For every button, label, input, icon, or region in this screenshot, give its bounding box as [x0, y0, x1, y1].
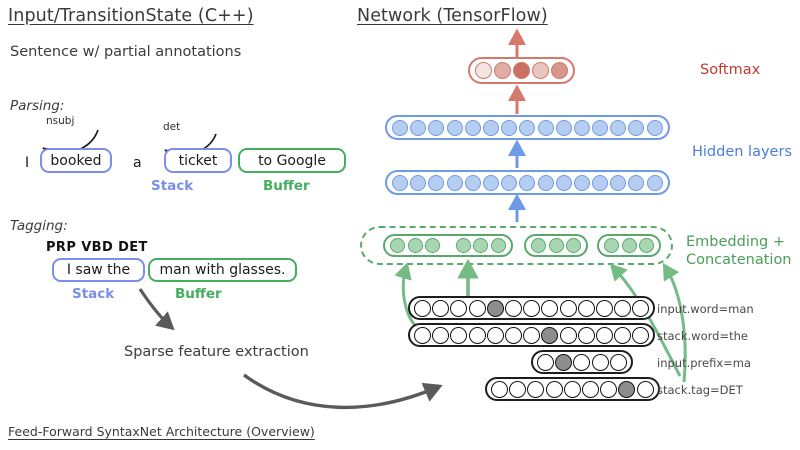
sparse-cell — [564, 381, 581, 398]
sparse-row-1-label: stack.word=the — [657, 329, 748, 343]
layer-unit — [390, 238, 405, 253]
sparse-row-0 — [408, 296, 655, 320]
sparse-cell — [637, 381, 654, 398]
sparse-row-3 — [485, 377, 660, 401]
layer-unit — [501, 120, 517, 136]
layer-unit — [494, 62, 511, 79]
embedding-to-hidden-arrow — [507, 196, 527, 224]
parse-stack-label: Stack — [151, 178, 193, 194]
sparse-cell — [596, 300, 613, 317]
layer-unit — [639, 238, 654, 253]
sparse-row-0-label: input.word=man — [657, 302, 754, 316]
layer-unit — [610, 175, 626, 191]
layer-unit — [556, 175, 572, 191]
extraction-arrow-down — [126, 285, 216, 345]
parse-token-ticket[interactable]: ticket — [164, 148, 232, 173]
left-panel-subtitle: Sentence w/ partial annotations — [10, 44, 241, 60]
sparse-cell — [432, 300, 449, 317]
layer-unit — [425, 238, 440, 253]
layer-unit — [465, 120, 481, 136]
parse-buffer-chip[interactable]: to Google — [238, 148, 346, 173]
layer-unit — [513, 62, 530, 79]
sparse-cell — [450, 300, 467, 317]
output-arrow — [507, 30, 527, 60]
layer-unit — [410, 175, 426, 191]
embedding-group-2 — [524, 234, 588, 257]
layer-unit — [574, 120, 590, 136]
layer-unit — [556, 120, 572, 136]
embedding-label-line2: Concatenation — [686, 252, 792, 269]
layer-unit — [574, 175, 590, 191]
layer-unit — [410, 120, 426, 136]
layer-unit — [532, 62, 549, 79]
layer-unit — [483, 120, 499, 136]
layer-unit — [428, 120, 444, 136]
sparse-cell — [560, 300, 577, 317]
sparse-cell-active — [487, 300, 504, 317]
sparse-cell — [469, 327, 486, 344]
layer-unit — [647, 175, 663, 191]
tagging-caption: Tagging: — [10, 218, 68, 234]
layer-unit — [473, 238, 488, 253]
parse-buffer-label: Buffer — [263, 178, 310, 194]
sparse-row-2 — [531, 350, 633, 374]
embedding-group-3 — [597, 234, 661, 257]
sparse-cell — [578, 300, 595, 317]
sparse-cell — [432, 327, 449, 344]
sparse-cell — [596, 327, 613, 344]
sparse-cell — [509, 381, 526, 398]
sparse-row-3-label: stack.tag=DET — [657, 383, 743, 397]
layer-unit — [392, 175, 408, 191]
layer-unit — [531, 238, 546, 253]
layer-unit — [628, 120, 644, 136]
layer-unit — [501, 175, 517, 191]
sparse-cell — [523, 327, 540, 344]
layer-unit — [551, 62, 568, 79]
sparse-cell — [592, 354, 609, 371]
tag-buffer-chip[interactable]: man with glasses. — [148, 258, 297, 282]
hidden-layers-label: Hidden layers — [692, 144, 792, 161]
hidden-layer-top — [385, 115, 670, 140]
layer-unit — [604, 238, 619, 253]
tag-stack-chip[interactable]: I saw the — [52, 258, 145, 282]
layer-unit — [549, 238, 564, 253]
layer-unit — [447, 175, 463, 191]
arc-label-det: det — [163, 121, 180, 133]
sparse-cell — [527, 381, 544, 398]
footer-caption: Feed-Forward SyntaxNet Architecture (Ove… — [8, 424, 315, 439]
sparse-cell — [614, 327, 631, 344]
sparse-cell — [614, 300, 631, 317]
sparse-cell — [450, 327, 467, 344]
tagging-pos-tags: PRP VBD DET — [46, 240, 148, 255]
layer-unit — [483, 175, 499, 191]
layer-unit — [428, 175, 444, 191]
sparse-cell — [600, 381, 617, 398]
left-panel-title: Input/TransitionState (C++) — [8, 6, 254, 26]
layer-unit — [592, 120, 608, 136]
sparse-row-2-label: input.prefix=ma — [657, 356, 751, 370]
layer-unit — [628, 175, 644, 191]
parse-token-a: a — [133, 155, 142, 171]
sparse-cell — [582, 381, 599, 398]
arc-label-nsubj: nsubj — [46, 115, 74, 127]
sparse-cell — [632, 300, 649, 317]
sparse-cell — [537, 354, 554, 371]
sparse-cell-active — [618, 381, 635, 398]
sparse-cell-active — [555, 354, 572, 371]
parse-token-i: I — [25, 155, 29, 171]
layer-unit — [465, 175, 481, 191]
parsing-caption: Parsing: — [10, 98, 64, 114]
softmax-layer — [468, 57, 575, 84]
layer-unit — [408, 238, 423, 253]
extraction-label: Sparse feature extraction — [124, 344, 309, 360]
layer-unit — [592, 175, 608, 191]
sparse-cell — [505, 300, 522, 317]
sparse-cell — [491, 381, 508, 398]
layer-unit — [456, 238, 471, 253]
layer-unit — [610, 120, 626, 136]
hidden-layer-bottom — [385, 170, 670, 195]
hidden-to-hidden-arrow — [507, 143, 527, 171]
sparse-row-1 — [408, 323, 655, 347]
layer-unit — [538, 175, 554, 191]
sparse-cell — [573, 354, 590, 371]
layer-unit — [447, 120, 463, 136]
tag-stack-label: Stack — [72, 286, 114, 302]
sparse-cell — [560, 327, 577, 344]
sparse-cell — [414, 300, 431, 317]
sparse-cell — [523, 300, 540, 317]
embedding-group-0-1 — [383, 234, 513, 257]
softmax-label: Softmax — [700, 62, 760, 79]
sparse-cell — [487, 327, 504, 344]
sparse-cell — [469, 300, 486, 317]
sparse-cell — [546, 381, 563, 398]
layer-unit — [622, 238, 637, 253]
layer-unit — [475, 62, 492, 79]
layer-unit — [538, 120, 554, 136]
right-panel-title: Network (TensorFlow) — [357, 6, 548, 26]
layer-unit — [491, 238, 506, 253]
sparse-cell-active — [541, 327, 558, 344]
sparse-cell — [414, 327, 431, 344]
layer-unit — [519, 175, 535, 191]
parse-token-booked[interactable]: booked — [40, 148, 112, 173]
sparse-cell — [541, 300, 558, 317]
layer-unit — [566, 238, 581, 253]
layer-unit — [647, 120, 663, 136]
embedding-label-line1: Embedding + — [686, 234, 785, 251]
layer-unit — [392, 120, 408, 136]
hidden-to-softmax-arrow — [507, 88, 527, 118]
sparse-cell — [505, 327, 522, 344]
layer-unit — [519, 120, 535, 136]
sparse-cell — [578, 327, 595, 344]
sparse-cell — [632, 327, 649, 344]
sparse-cell — [610, 354, 627, 371]
